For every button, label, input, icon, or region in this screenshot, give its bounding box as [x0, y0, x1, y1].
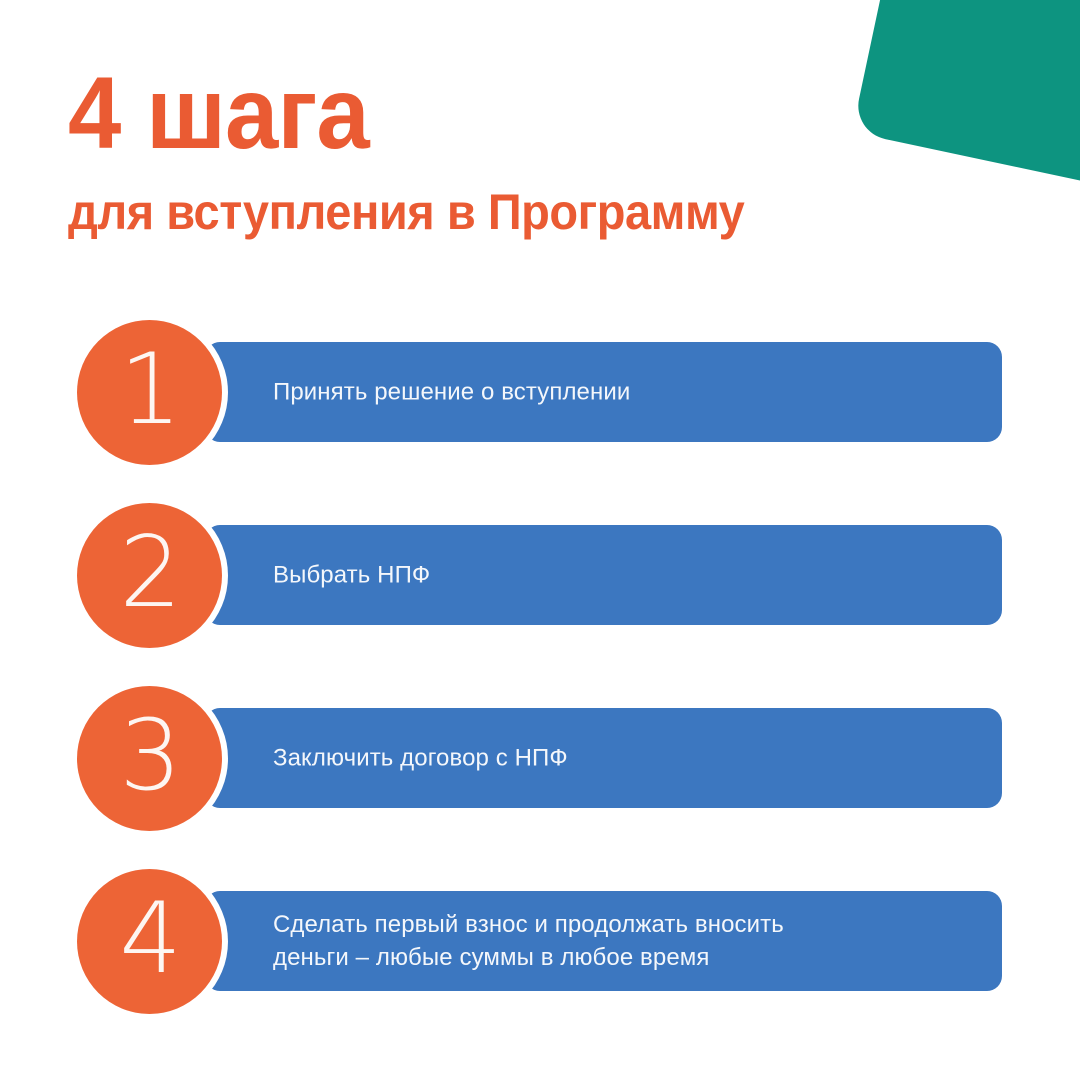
step-bar-4: Сделать первый взнос и продолжать вносит… [205, 891, 1002, 991]
page-subtitle: для вступления в Программу [68, 186, 933, 239]
step-badge-2: 2 [77, 503, 222, 648]
step-label-2: Выбрать НПФ [273, 558, 460, 591]
step-number-4: 4 [119, 890, 179, 988]
step-label-4: Сделать первый взнос и продолжать вносит… [273, 908, 814, 974]
page-title: 4 шага [68, 62, 933, 164]
step-bar-2: Выбрать НПФ [205, 525, 1002, 625]
step-label-1: Принять решение о вступлении [273, 375, 660, 408]
step-number-3: 3 [119, 707, 179, 805]
infographic-canvas: 4 шага для вступления в Программу Принят… [0, 0, 1080, 1080]
list-item: Принять решение о вступлении 1 [0, 320, 1080, 465]
headline-block: 4 шага для вступления в Программу [68, 62, 988, 239]
step-label-3: Заключить договор с НПФ [273, 741, 598, 774]
step-bar-1: Принять решение о вступлении [205, 342, 1002, 442]
step-number-1: 1 [119, 341, 179, 439]
list-item: Сделать первый взнос и продолжать вносит… [0, 869, 1080, 1014]
step-badge-3: 3 [77, 686, 222, 831]
step-badge-1: 1 [77, 320, 222, 465]
list-item: Выбрать НПФ 2 [0, 503, 1080, 648]
step-bar-3: Заключить договор с НПФ [205, 708, 1002, 808]
step-badge-4: 4 [77, 869, 222, 1014]
steps-list: Принять решение о вступлении 1 Выбрать Н… [0, 320, 1080, 1052]
step-number-2: 2 [119, 524, 179, 622]
list-item: Заключить договор с НПФ 3 [0, 686, 1080, 831]
